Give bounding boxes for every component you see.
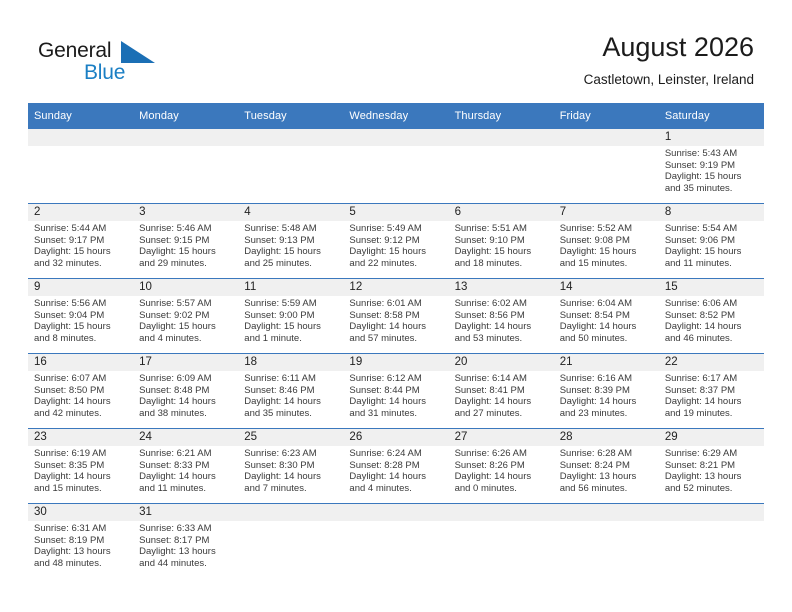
day-cell-inner: 10Sunrise: 5:57 AMSunset: 9:02 PMDayligh… [133,279,238,353]
day-cell-inner: 29Sunrise: 6:29 AMSunset: 8:21 PMDayligh… [659,429,764,503]
page-header: General Blue August 2026 Castletown, Lei… [0,0,792,100]
calendar-day-cell[interactable]: 9Sunrise: 5:56 AMSunset: 9:04 PMDaylight… [28,279,133,354]
day-detail-line: Sunrise: 6:16 AM [560,373,655,385]
day-cell-inner: 19Sunrise: 6:12 AMSunset: 8:44 PMDayligh… [343,354,448,428]
day-detail-line: Sunrise: 6:01 AM [349,298,444,310]
day-detail-line: and 18 minutes. [455,258,550,270]
day-detail-lines: Sunrise: 6:29 AMSunset: 8:21 PMDaylight:… [659,446,764,494]
day-detail-line: Daylight: 14 hours [560,396,655,408]
day-number: 19 [343,354,448,371]
day-detail-line: Sunrise: 5:57 AM [139,298,234,310]
day-detail-line: and 15 minutes. [34,483,129,495]
day-number [554,504,659,521]
day-detail-line: Sunrise: 6:06 AM [665,298,760,310]
day-cell-inner [238,504,343,578]
calendar-empty-cell [343,504,448,579]
day-cell-inner [343,504,448,578]
day-detail-line: Sunrise: 5:51 AM [455,223,550,235]
day-number: 21 [554,354,659,371]
day-detail-line: and 27 minutes. [455,408,550,420]
day-detail-lines [28,146,133,148]
day-detail-line: Sunset: 8:46 PM [244,385,339,397]
day-detail-line: Sunset: 9:10 PM [455,235,550,247]
day-cell-inner: 23Sunrise: 6:19 AMSunset: 8:35 PMDayligh… [28,429,133,503]
blue-flag-triangle-icon [121,41,155,63]
day-cell-inner: 7Sunrise: 5:52 AMSunset: 9:08 PMDaylight… [554,204,659,278]
calendar-day-cell[interactable]: 4Sunrise: 5:48 AMSunset: 9:13 PMDaylight… [238,204,343,279]
calendar-day-cell[interactable]: 7Sunrise: 5:52 AMSunset: 9:08 PMDaylight… [554,204,659,279]
day-detail-line: and 35 minutes. [665,183,760,195]
day-detail-line: Sunrise: 6:26 AM [455,448,550,460]
day-detail-line: Daylight: 14 hours [139,471,234,483]
day-cell-inner: 31Sunrise: 6:33 AMSunset: 8:17 PMDayligh… [133,504,238,578]
day-detail-line: Sunset: 9:15 PM [139,235,234,247]
day-detail-line: Sunset: 8:54 PM [560,310,655,322]
calendar-day-cell[interactable]: 1Sunrise: 5:43 AMSunset: 9:19 PMDaylight… [659,129,764,204]
day-detail-line: Sunrise: 6:02 AM [455,298,550,310]
day-cell-inner [659,504,764,578]
day-cell-inner [554,504,659,578]
day-detail-line: Sunrise: 6:24 AM [349,448,444,460]
day-detail-line: Sunrise: 6:33 AM [139,523,234,535]
day-number: 6 [449,204,554,221]
calendar-empty-cell [343,129,448,204]
calendar-day-cell[interactable]: 8Sunrise: 5:54 AMSunset: 9:06 PMDaylight… [659,204,764,279]
day-detail-lines: Sunrise: 6:33 AMSunset: 8:17 PMDaylight:… [133,521,238,569]
day-number: 1 [659,129,764,146]
calendar-empty-cell [238,504,343,579]
day-detail-line: Daylight: 14 hours [139,396,234,408]
day-detail-line: Sunrise: 5:52 AM [560,223,655,235]
day-detail-line: and 35 minutes. [244,408,339,420]
day-detail-line: and 1 minute. [244,333,339,345]
day-detail-line: Daylight: 14 hours [455,471,550,483]
calendar-header-row: SundayMondayTuesdayWednesdayThursdayFrid… [28,103,764,129]
day-detail-line: Daylight: 13 hours [665,471,760,483]
day-detail-lines [133,146,238,148]
calendar-empty-cell [554,129,659,204]
day-detail-line: Sunrise: 6:19 AM [34,448,129,460]
calendar-day-cell[interactable]: 23Sunrise: 6:19 AMSunset: 8:35 PMDayligh… [28,429,133,504]
day-detail-lines: Sunrise: 6:28 AMSunset: 8:24 PMDaylight:… [554,446,659,494]
day-detail-line: and 44 minutes. [139,558,234,570]
day-detail-lines: Sunrise: 6:04 AMSunset: 8:54 PMDaylight:… [554,296,659,344]
day-number: 17 [133,354,238,371]
day-number [554,129,659,146]
day-detail-lines: Sunrise: 5:49 AMSunset: 9:12 PMDaylight:… [343,221,448,269]
day-detail-line: Daylight: 14 hours [349,396,444,408]
day-detail-line: Sunset: 8:26 PM [455,460,550,472]
day-number: 8 [659,204,764,221]
day-number: 20 [449,354,554,371]
day-detail-line: Sunset: 8:35 PM [34,460,129,472]
day-detail-line: Daylight: 14 hours [349,471,444,483]
day-number: 10 [133,279,238,296]
calendar-day-cell[interactable]: 28Sunrise: 6:28 AMSunset: 8:24 PMDayligh… [554,429,659,504]
calendar-empty-cell [449,129,554,204]
calendar-week-row: 1Sunrise: 5:43 AMSunset: 9:19 PMDaylight… [28,129,764,204]
calendar-empty-cell [238,129,343,204]
day-number: 26 [343,429,448,446]
day-cell-inner: 2Sunrise: 5:44 AMSunset: 9:17 PMDaylight… [28,204,133,278]
day-detail-lines: Sunrise: 6:09 AMSunset: 8:48 PMDaylight:… [133,371,238,419]
day-detail-line: Daylight: 14 hours [349,321,444,333]
day-detail-line: Sunrise: 6:09 AM [139,373,234,385]
calendar-day-cell[interactable]: 13Sunrise: 6:02 AMSunset: 8:56 PMDayligh… [449,279,554,354]
day-cell-inner: 28Sunrise: 6:28 AMSunset: 8:24 PMDayligh… [554,429,659,503]
day-detail-line: Sunset: 8:58 PM [349,310,444,322]
calendar-week-row: 23Sunrise: 6:19 AMSunset: 8:35 PMDayligh… [28,429,764,504]
day-detail-line: Daylight: 14 hours [244,396,339,408]
day-detail-line: Sunrise: 5:49 AM [349,223,444,235]
day-cell-inner: 25Sunrise: 6:23 AMSunset: 8:30 PMDayligh… [238,429,343,503]
day-number: 11 [238,279,343,296]
day-number [238,129,343,146]
day-cell-inner: 4Sunrise: 5:48 AMSunset: 9:13 PMDaylight… [238,204,343,278]
day-detail-line: and 11 minutes. [665,258,760,270]
day-detail-line: Sunrise: 5:59 AM [244,298,339,310]
day-detail-lines: Sunrise: 6:21 AMSunset: 8:33 PMDaylight:… [133,446,238,494]
day-detail-line: Sunset: 8:41 PM [455,385,550,397]
calendar-day-cell[interactable]: 12Sunrise: 6:01 AMSunset: 8:58 PMDayligh… [343,279,448,354]
day-number [28,129,133,146]
calendar-week-row: 30Sunrise: 6:31 AMSunset: 8:19 PMDayligh… [28,504,764,579]
day-detail-line: Sunrise: 6:04 AM [560,298,655,310]
day-number: 27 [449,429,554,446]
day-detail-line: Sunrise: 6:29 AM [665,448,760,460]
day-detail-lines: Sunrise: 5:51 AMSunset: 9:10 PMDaylight:… [449,221,554,269]
day-number: 28 [554,429,659,446]
calendar-day-cell[interactable]: 10Sunrise: 5:57 AMSunset: 9:02 PMDayligh… [133,279,238,354]
calendar-day-cell[interactable]: 11Sunrise: 5:59 AMSunset: 9:00 PMDayligh… [238,279,343,354]
day-cell-inner: 27Sunrise: 6:26 AMSunset: 8:26 PMDayligh… [449,429,554,503]
day-detail-lines: Sunrise: 6:26 AMSunset: 8:26 PMDaylight:… [449,446,554,494]
day-detail-line: and 52 minutes. [665,483,760,495]
day-detail-line: Daylight: 15 hours [349,246,444,258]
day-detail-lines: Sunrise: 6:16 AMSunset: 8:39 PMDaylight:… [554,371,659,419]
day-detail-line: Sunset: 8:37 PM [665,385,760,397]
day-detail-line: and 19 minutes. [665,408,760,420]
day-cell-inner: 17Sunrise: 6:09 AMSunset: 8:48 PMDayligh… [133,354,238,428]
day-number [238,504,343,521]
day-detail-line: Sunset: 8:19 PM [34,535,129,547]
day-detail-lines: Sunrise: 5:59 AMSunset: 9:00 PMDaylight:… [238,296,343,344]
day-detail-lines: Sunrise: 6:11 AMSunset: 8:46 PMDaylight:… [238,371,343,419]
day-detail-line: Sunset: 8:33 PM [139,460,234,472]
day-detail-lines: Sunrise: 6:19 AMSunset: 8:35 PMDaylight:… [28,446,133,494]
calendar-body: 1Sunrise: 5:43 AMSunset: 9:19 PMDaylight… [28,129,764,578]
day-detail-line: Daylight: 15 hours [34,246,129,258]
day-detail-line: Sunset: 8:50 PM [34,385,129,397]
day-detail-line: Daylight: 15 hours [665,171,760,183]
calendar-day-cell[interactable]: 3Sunrise: 5:46 AMSunset: 9:15 PMDaylight… [133,204,238,279]
day-cell-inner: 12Sunrise: 6:01 AMSunset: 8:58 PMDayligh… [343,279,448,353]
calendar-day-cell[interactable]: 31Sunrise: 6:33 AMSunset: 8:17 PMDayligh… [133,504,238,579]
calendar-day-cell[interactable]: 29Sunrise: 6:29 AMSunset: 8:21 PMDayligh… [659,429,764,504]
day-detail-line: and 31 minutes. [349,408,444,420]
day-detail-line: Daylight: 15 hours [455,246,550,258]
calendar-day-cell[interactable]: 26Sunrise: 6:24 AMSunset: 8:28 PMDayligh… [343,429,448,504]
day-cell-inner: 3Sunrise: 5:46 AMSunset: 9:15 PMDaylight… [133,204,238,278]
day-detail-line: Sunrise: 5:56 AM [34,298,129,310]
day-cell-inner: 1Sunrise: 5:43 AMSunset: 9:19 PMDaylight… [659,129,764,203]
day-detail-line: Sunrise: 6:11 AM [244,373,339,385]
calendar-day-cell[interactable]: 25Sunrise: 6:23 AMSunset: 8:30 PMDayligh… [238,429,343,504]
day-detail-line: Sunrise: 6:14 AM [455,373,550,385]
brand-name-blue: Blue [84,60,125,86]
day-detail-lines: Sunrise: 5:48 AMSunset: 9:13 PMDaylight:… [238,221,343,269]
day-number: 30 [28,504,133,521]
day-detail-line: Sunset: 9:13 PM [244,235,339,247]
day-detail-lines: Sunrise: 5:43 AMSunset: 9:19 PMDaylight:… [659,146,764,194]
day-detail-line: Sunrise: 5:48 AM [244,223,339,235]
calendar-day-cell[interactable]: 6Sunrise: 5:51 AMSunset: 9:10 PMDaylight… [449,204,554,279]
calendar-table: SundayMondayTuesdayWednesdayThursdayFrid… [28,103,764,578]
calendar-day-cell[interactable]: 14Sunrise: 6:04 AMSunset: 8:54 PMDayligh… [554,279,659,354]
day-detail-line: Daylight: 14 hours [455,396,550,408]
weekday-header-thursday: Thursday [449,103,554,129]
day-cell-inner: 26Sunrise: 6:24 AMSunset: 8:28 PMDayligh… [343,429,448,503]
day-cell-inner [449,129,554,203]
day-detail-line: Sunrise: 6:17 AM [665,373,760,385]
day-detail-lines [238,521,343,523]
day-detail-line: Sunset: 9:08 PM [560,235,655,247]
calendar-empty-cell [554,504,659,579]
day-detail-lines: Sunrise: 6:07 AMSunset: 8:50 PMDaylight:… [28,371,133,419]
weekday-header-sunday: Sunday [28,103,133,129]
day-detail-line: Sunrise: 6:31 AM [34,523,129,535]
day-number: 4 [238,204,343,221]
day-detail-line: Sunset: 9:00 PM [244,310,339,322]
weekday-header-monday: Monday [133,103,238,129]
day-detail-line: Sunrise: 6:28 AM [560,448,655,460]
day-detail-line: Sunset: 8:52 PM [665,310,760,322]
day-cell-inner [28,129,133,203]
day-detail-line: and 23 minutes. [560,408,655,420]
day-detail-lines [554,521,659,523]
day-detail-line: Daylight: 14 hours [455,321,550,333]
calendar-day-cell[interactable]: 17Sunrise: 6:09 AMSunset: 8:48 PMDayligh… [133,354,238,429]
day-detail-lines: Sunrise: 5:46 AMSunset: 9:15 PMDaylight:… [133,221,238,269]
day-cell-inner [238,129,343,203]
day-detail-line: and 4 minutes. [349,483,444,495]
day-number: 16 [28,354,133,371]
calendar-day-cell[interactable]: 5Sunrise: 5:49 AMSunset: 9:12 PMDaylight… [343,204,448,279]
day-detail-line: and 4 minutes. [139,333,234,345]
day-detail-line: and 53 minutes. [455,333,550,345]
day-detail-line: Daylight: 14 hours [665,396,760,408]
day-detail-line: Daylight: 15 hours [34,321,129,333]
day-detail-line: Sunrise: 5:44 AM [34,223,129,235]
day-number: 7 [554,204,659,221]
day-detail-lines: Sunrise: 6:24 AMSunset: 8:28 PMDaylight:… [343,446,448,494]
calendar-day-cell[interactable]: 19Sunrise: 6:12 AMSunset: 8:44 PMDayligh… [343,354,448,429]
day-detail-line: Daylight: 14 hours [665,321,760,333]
calendar-day-cell[interactable]: 16Sunrise: 6:07 AMSunset: 8:50 PMDayligh… [28,354,133,429]
day-detail-lines [343,146,448,148]
day-detail-line: Daylight: 13 hours [139,546,234,558]
weekday-header-wednesday: Wednesday [343,103,448,129]
day-detail-lines: Sunrise: 6:02 AMSunset: 8:56 PMDaylight:… [449,296,554,344]
day-cell-inner: 24Sunrise: 6:21 AMSunset: 8:33 PMDayligh… [133,429,238,503]
day-detail-lines: Sunrise: 5:52 AMSunset: 9:08 PMDaylight:… [554,221,659,269]
day-detail-line: Sunrise: 5:43 AM [665,148,760,160]
day-detail-lines: Sunrise: 5:57 AMSunset: 9:02 PMDaylight:… [133,296,238,344]
day-number: 31 [133,504,238,521]
day-number [449,129,554,146]
day-number [133,129,238,146]
day-detail-line: Daylight: 14 hours [244,471,339,483]
day-number [343,504,448,521]
day-detail-line: Sunset: 8:48 PM [139,385,234,397]
day-cell-inner: 6Sunrise: 5:51 AMSunset: 9:10 PMDaylight… [449,204,554,278]
day-detail-line: Sunset: 8:39 PM [560,385,655,397]
day-detail-line: Sunset: 8:17 PM [139,535,234,547]
day-cell-inner: 20Sunrise: 6:14 AMSunset: 8:41 PMDayligh… [449,354,554,428]
calendar-week-row: 9Sunrise: 5:56 AMSunset: 9:04 PMDaylight… [28,279,764,354]
calendar-day-cell[interactable]: 24Sunrise: 6:21 AMSunset: 8:33 PMDayligh… [133,429,238,504]
day-detail-line: and 0 minutes. [455,483,550,495]
day-cell-inner: 8Sunrise: 5:54 AMSunset: 9:06 PMDaylight… [659,204,764,278]
day-cell-inner: 30Sunrise: 6:31 AMSunset: 8:19 PMDayligh… [28,504,133,578]
day-detail-line: Sunset: 8:24 PM [560,460,655,472]
day-detail-line: and 50 minutes. [560,333,655,345]
day-detail-lines: Sunrise: 5:56 AMSunset: 9:04 PMDaylight:… [28,296,133,344]
day-detail-line: Daylight: 14 hours [560,321,655,333]
day-detail-line: Sunrise: 6:07 AM [34,373,129,385]
day-detail-line: Sunset: 8:21 PM [665,460,760,472]
day-detail-line: Sunset: 9:12 PM [349,235,444,247]
day-detail-line: Daylight: 15 hours [244,321,339,333]
day-detail-line: Sunset: 9:02 PM [139,310,234,322]
page-subtitle: Castletown, Leinster, Ireland [584,70,754,90]
calendar-day-cell[interactable]: 20Sunrise: 6:14 AMSunset: 8:41 PMDayligh… [449,354,554,429]
day-detail-line: Daylight: 15 hours [560,246,655,258]
day-cell-inner: 14Sunrise: 6:04 AMSunset: 8:54 PMDayligh… [554,279,659,353]
day-cell-inner: 21Sunrise: 6:16 AMSunset: 8:39 PMDayligh… [554,354,659,428]
weekday-header-saturday: Saturday [659,103,764,129]
day-number: 18 [238,354,343,371]
calendar-day-cell[interactable]: 18Sunrise: 6:11 AMSunset: 8:46 PMDayligh… [238,354,343,429]
day-number: 5 [343,204,448,221]
calendar-week-row: 2Sunrise: 5:44 AMSunset: 9:17 PMDaylight… [28,204,764,279]
day-detail-lines [238,146,343,148]
day-cell-inner: 22Sunrise: 6:17 AMSunset: 8:37 PMDayligh… [659,354,764,428]
day-number: 13 [449,279,554,296]
day-detail-line: Sunrise: 6:12 AM [349,373,444,385]
day-detail-line: and 48 minutes. [34,558,129,570]
day-detail-line: Sunrise: 6:23 AM [244,448,339,460]
day-number: 23 [28,429,133,446]
calendar-week-row: 16Sunrise: 6:07 AMSunset: 8:50 PMDayligh… [28,354,764,429]
day-detail-line: and 15 minutes. [560,258,655,270]
title-block: August 2026 Castletown, Leinster, Irelan… [584,30,754,90]
day-detail-lines: Sunrise: 6:17 AMSunset: 8:37 PMDaylight:… [659,371,764,419]
day-detail-line: and 38 minutes. [139,408,234,420]
day-cell-inner: 18Sunrise: 6:11 AMSunset: 8:46 PMDayligh… [238,354,343,428]
day-detail-line: and 22 minutes. [349,258,444,270]
day-detail-line: and 46 minutes. [665,333,760,345]
day-cell-inner [133,129,238,203]
day-number: 22 [659,354,764,371]
day-number [343,129,448,146]
day-detail-line: and 25 minutes. [244,258,339,270]
day-detail-line: and 42 minutes. [34,408,129,420]
day-detail-line: Sunrise: 6:21 AM [139,448,234,460]
day-cell-inner: 11Sunrise: 5:59 AMSunset: 9:00 PMDayligh… [238,279,343,353]
day-detail-lines: Sunrise: 5:54 AMSunset: 9:06 PMDaylight:… [659,221,764,269]
calendar-empty-cell [449,504,554,579]
day-detail-line: Daylight: 14 hours [34,471,129,483]
day-detail-lines: Sunrise: 6:06 AMSunset: 8:52 PMDaylight:… [659,296,764,344]
day-cell-inner: 16Sunrise: 6:07 AMSunset: 8:50 PMDayligh… [28,354,133,428]
day-detail-line: Sunset: 9:06 PM [665,235,760,247]
day-detail-line: and 7 minutes. [244,483,339,495]
day-number: 9 [28,279,133,296]
day-number: 24 [133,429,238,446]
day-cell-inner: 9Sunrise: 5:56 AMSunset: 9:04 PMDaylight… [28,279,133,353]
day-detail-line: Daylight: 15 hours [139,246,234,258]
day-detail-line: Sunset: 8:28 PM [349,460,444,472]
day-detail-line: Daylight: 13 hours [560,471,655,483]
day-cell-inner: 13Sunrise: 6:02 AMSunset: 8:56 PMDayligh… [449,279,554,353]
day-number: 25 [238,429,343,446]
calendar-empty-cell [28,129,133,204]
calendar-day-cell[interactable]: 21Sunrise: 6:16 AMSunset: 8:39 PMDayligh… [554,354,659,429]
day-detail-lines: Sunrise: 6:12 AMSunset: 8:44 PMDaylight:… [343,371,448,419]
day-cell-inner: 15Sunrise: 6:06 AMSunset: 8:52 PMDayligh… [659,279,764,353]
calendar-day-cell[interactable]: 22Sunrise: 6:17 AMSunset: 8:37 PMDayligh… [659,354,764,429]
day-cell-inner: 5Sunrise: 5:49 AMSunset: 9:12 PMDaylight… [343,204,448,278]
calendar-empty-cell [133,129,238,204]
day-number [659,504,764,521]
day-detail-line: Sunset: 8:30 PM [244,460,339,472]
day-number: 12 [343,279,448,296]
day-detail-lines: Sunrise: 6:31 AMSunset: 8:19 PMDaylight:… [28,521,133,569]
day-detail-line: Daylight: 15 hours [139,321,234,333]
day-detail-line: and 56 minutes. [560,483,655,495]
day-detail-line: Sunset: 9:04 PM [34,310,129,322]
day-detail-line: Daylight: 15 hours [244,246,339,258]
day-detail-line: and 29 minutes. [139,258,234,270]
calendar-day-cell[interactable]: 27Sunrise: 6:26 AMSunset: 8:26 PMDayligh… [449,429,554,504]
day-detail-line: Daylight: 14 hours [34,396,129,408]
day-detail-lines [449,146,554,148]
day-detail-lines [554,146,659,148]
day-detail-line: and 32 minutes. [34,258,129,270]
brand-logo[interactable]: General Blue [38,38,178,90]
weekday-header-tuesday: Tuesday [238,103,343,129]
calendar-page: General Blue August 2026 Castletown, Lei… [0,0,792,612]
day-number: 3 [133,204,238,221]
day-detail-line: Sunset: 8:56 PM [455,310,550,322]
calendar-empty-cell [659,504,764,579]
day-number: 2 [28,204,133,221]
calendar-day-cell[interactable]: 2Sunrise: 5:44 AMSunset: 9:17 PMDaylight… [28,204,133,279]
day-detail-lines: Sunrise: 6:01 AMSunset: 8:58 PMDaylight:… [343,296,448,344]
calendar-day-cell[interactable]: 15Sunrise: 6:06 AMSunset: 8:52 PMDayligh… [659,279,764,354]
page-title: August 2026 [584,30,754,64]
day-number [449,504,554,521]
calendar-day-cell[interactable]: 30Sunrise: 6:31 AMSunset: 8:19 PMDayligh… [28,504,133,579]
day-detail-lines: Sunrise: 6:14 AMSunset: 8:41 PMDaylight:… [449,371,554,419]
day-detail-line: and 8 minutes. [34,333,129,345]
day-detail-line: Sunrise: 5:46 AM [139,223,234,235]
day-cell-inner [449,504,554,578]
day-detail-line: Sunset: 9:19 PM [665,160,760,172]
day-detail-line: Sunset: 9:17 PM [34,235,129,247]
day-detail-lines [343,521,448,523]
